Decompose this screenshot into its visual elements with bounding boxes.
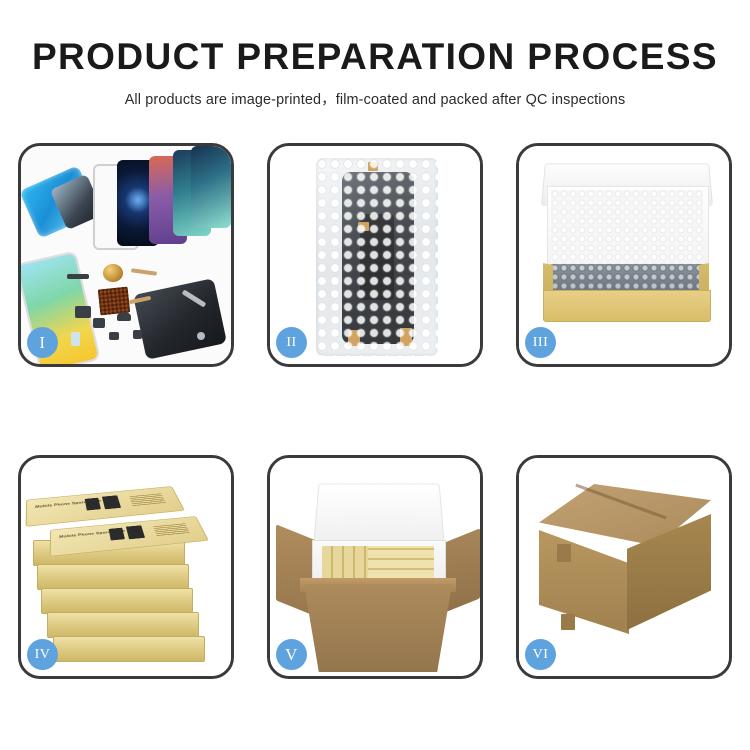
spare-part-chip <box>75 306 91 318</box>
step-badge-2: II <box>276 327 307 358</box>
box-window-chip <box>126 525 145 539</box>
box-window-chip <box>102 495 121 509</box>
box-print-lines <box>153 522 190 536</box>
page-subtitle: All products are image-printed，film-coat… <box>0 88 750 109</box>
process-steps-grid: I II <box>18 143 732 679</box>
screw-part <box>197 332 205 340</box>
carton-tape <box>557 544 571 562</box>
stacked-box <box>37 564 189 590</box>
box-window-chip <box>85 498 101 511</box>
spare-part-chip <box>117 312 131 321</box>
process-step-panel-2[interactable]: II <box>267 143 483 367</box>
box-front-panel <box>543 290 711 322</box>
process-step-panel-5[interactable]: V <box>267 455 483 679</box>
carton-body <box>304 584 452 672</box>
stacked-box <box>53 636 205 662</box>
spare-part-chip <box>71 332 80 346</box>
page-header: PRODUCT PREPARATION PROCESS All products… <box>0 0 750 109</box>
step-badge-4: IV <box>27 639 58 670</box>
spare-part-chip <box>109 332 119 340</box>
carton-tape <box>561 614 575 630</box>
spare-part-chip <box>133 330 142 339</box>
camera-lens-part <box>103 264 123 282</box>
foam-box-lid <box>313 483 444 542</box>
box-print-lines <box>129 492 166 506</box>
spare-part-chip <box>67 274 89 279</box>
box-window-chip <box>109 528 125 541</box>
product-preparation-page: PRODUCT PREPARATION PROCESS All products… <box>0 0 750 750</box>
process-step-panel-3[interactable]: III <box>516 143 732 367</box>
step-badge-1: I <box>27 327 58 358</box>
step-badge-5: V <box>276 639 307 670</box>
process-step-panel-4[interactable]: Mobile Phone Spare Parts Mobile Phone Sp… <box>18 455 234 679</box>
process-step-panel-6[interactable]: VI <box>516 455 732 679</box>
process-step-panel-1[interactable]: I <box>18 143 234 367</box>
spare-part-chip <box>93 318 105 328</box>
step-badge-3: III <box>525 327 556 358</box>
bubble-wrapped-contents <box>551 264 703 292</box>
phone-housing-graphic <box>133 278 227 360</box>
flex-cable-part <box>131 268 157 276</box>
foam-lining-graphic <box>551 190 703 264</box>
carton-left-face <box>539 530 629 634</box>
stacked-box <box>47 612 199 638</box>
phone-teal2-graphic <box>191 146 231 228</box>
bubble-texture-overlay <box>316 158 438 356</box>
stacked-box <box>41 588 193 614</box>
step-badge-6: VI <box>525 639 556 670</box>
page-title: PRODUCT PREPARATION PROCESS <box>0 38 750 75</box>
